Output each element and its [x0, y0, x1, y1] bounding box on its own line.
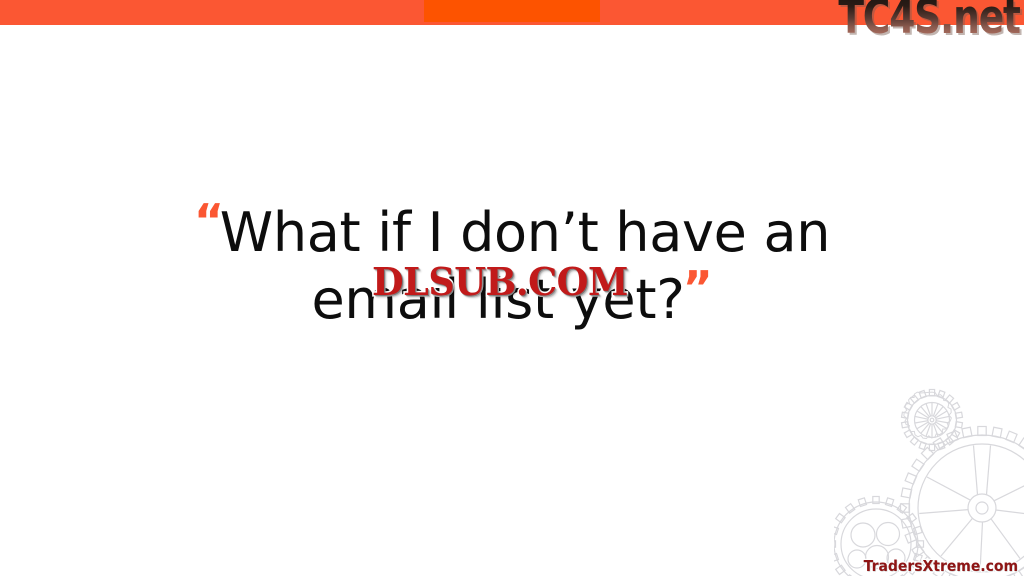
- tc4s-watermark: TC4S.net: [839, 0, 1020, 41]
- dlsub-watermark: DLSUB.COM: [372, 263, 628, 301]
- close-quote-mark: ”: [683, 261, 713, 315]
- gear-illustration: [834, 376, 1024, 576]
- progress-segment: [424, 0, 600, 22]
- quote-line-1-text: What if I don’t have an: [220, 201, 830, 264]
- gear-large-icon: [901, 427, 1024, 577]
- quote-line-1: “What if I don’t have an: [0, 196, 1024, 263]
- dlsub-watermark-text: DLSUB.COM: [372, 259, 628, 304]
- tradersxtreme-watermark: TradersXtreme.com: [864, 559, 1018, 574]
- gear-small-icon: [902, 390, 963, 451]
